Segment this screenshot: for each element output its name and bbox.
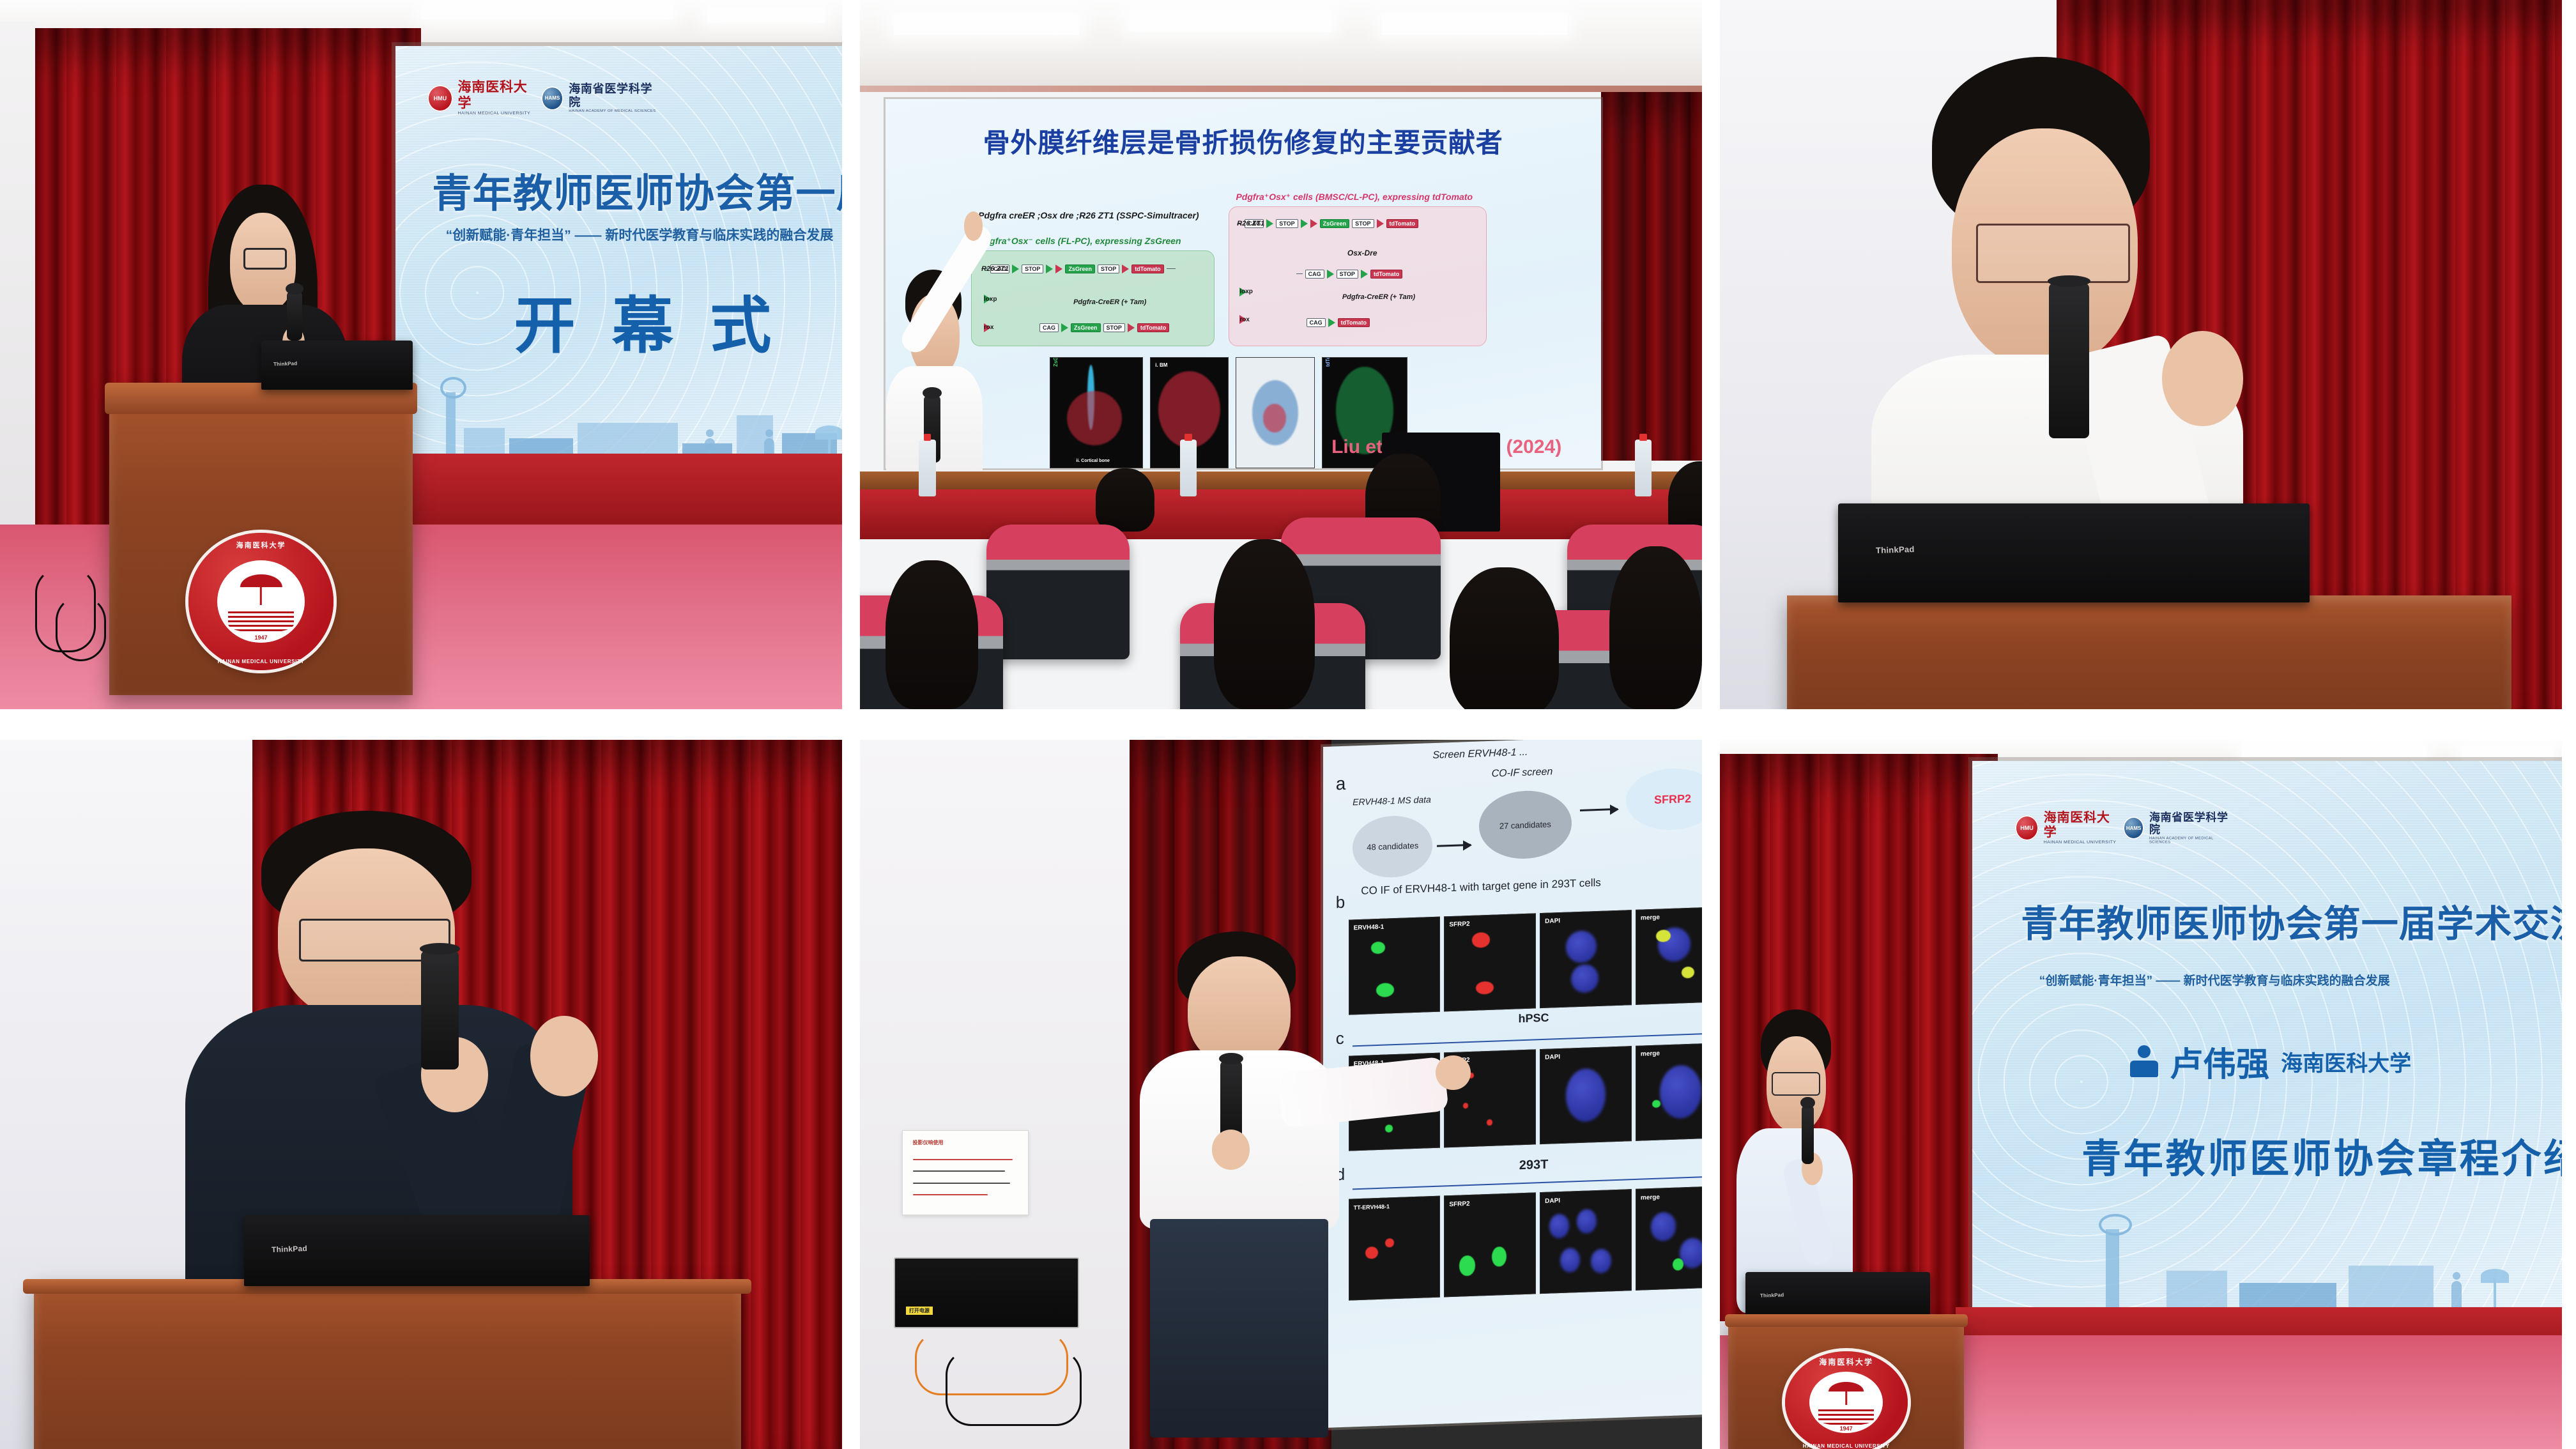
banner-subtitle: “创新赋能·青年担当” —— 新时代医学教育与临床实践的融合发展 — [2039, 971, 2390, 988]
person-silhouette — [2451, 1281, 2462, 1309]
led-banner: HMU 海南医科大学 HAINAN MEDICAL UNIVERSITY HAM… — [395, 46, 842, 471]
screen-heading: Screen ERVH48-1 ... — [1432, 747, 1528, 762]
open-book-icon — [1818, 1409, 1874, 1425]
element-tdtomato: tdTomato — [1386, 219, 1418, 228]
emblem-en-text: HAINAN MEDICAL UNIVERSITY — [1785, 1443, 1908, 1449]
hainan-academy-logo-icon: HAMS — [2123, 816, 2145, 839]
notice-title: 投影仪响使用 — [913, 1139, 944, 1146]
legend-loxp: loxp — [1239, 287, 1246, 296]
loxp-triangle-icon — [1012, 264, 1019, 273]
male-speaker — [1736, 1009, 1871, 1307]
thinkpad-logo: ThinkPad — [272, 1244, 307, 1254]
element-tdtomato: tdTomato — [1137, 323, 1169, 332]
led-banner: HMU 海南医科大学 HAINAN MEDICAL UNIVERSITY HAM… — [1972, 761, 2562, 1314]
panel-b-letter: b — [1336, 893, 1345, 913]
banner-speaker-name: 卢伟强 — [2170, 1038, 2269, 1085]
logo-primary-text: 海南医科大学 HAINAN MEDICAL UNIVERSITY — [457, 80, 535, 116]
loxp-triangle-icon — [1266, 219, 1273, 228]
podium — [34, 1279, 741, 1449]
element-stop: STOP — [1352, 219, 1374, 228]
audience-head — [1609, 546, 1702, 709]
if-grid-d: TT-ERVH48-1 SFRP2 DAPI merge — [1348, 1186, 1702, 1301]
loxp-triangle-icon — [1061, 323, 1068, 332]
candidates-27-label: 27 candidates — [1499, 819, 1551, 831]
male-presenter-pointing — [1112, 931, 1382, 1428]
gene-row: R26 ZT1 CAG STOP ZsGreen STOP tdTomato — [981, 264, 1176, 273]
panel-a-letter: a — [1336, 773, 1346, 794]
if-cell: merge — [1636, 1043, 1702, 1141]
element-cag: CAG — [1039, 323, 1059, 332]
green-construct-caption: Pdgfra⁺Osx⁻ cells (FL-PC), expressing Zs… — [978, 236, 1181, 247]
candidates-48-ellipse: 48 candidates — [1353, 815, 1432, 878]
element-tdtomato: tdTomato — [1370, 270, 1402, 279]
banner-speaker-row: 卢伟强 海南医科大学 — [2130, 1038, 2411, 1085]
university-emblem: 海南医科大学 1947 HAINAN MEDICAL UNIVERSITY — [1785, 1351, 1908, 1449]
podium-top — [1725, 1314, 1968, 1327]
candidates-27-ellipse: 27 candidates — [1479, 789, 1572, 861]
notice-line — [913, 1159, 1013, 1160]
logo-secondary-text: 海南省医学科学院 HAINAN ACADEMY OF MEDICAL SCIEN… — [569, 82, 658, 113]
if-column-label: DAPI — [1545, 1197, 1560, 1205]
laptop: ThinkPad — [261, 341, 413, 390]
banner-title: 青年教师医师协会第一届学术交流会 — [432, 161, 842, 218]
water-bottle — [1635, 440, 1652, 496]
notice-line — [913, 1194, 988, 1195]
banner-logo-row: HMU 海南医科大学 HAINAN MEDICAL UNIVERSITY HAM… — [2015, 811, 2234, 845]
ceiling-light — [421, 4, 673, 19]
rox-triangle-icon — [1122, 264, 1129, 273]
if-cell: SFRP2 — [1444, 1192, 1536, 1298]
stage-curtain-right — [1601, 92, 1702, 461]
emblem-cn-text: 海南医科大学 — [1785, 1356, 1908, 1367]
logo-secondary-text: 海南省医学科学院 HAINAN ACADEMY OF MEDICAL SCIEN… — [2149, 811, 2234, 845]
element-stop: STOP — [1276, 219, 1298, 228]
water-bottle — [919, 440, 935, 496]
glasses-icon — [1772, 1072, 1820, 1096]
arrow-icon — [1437, 844, 1471, 847]
ceiling-light — [894, 14, 1079, 35]
logo-secondary-cn: 海南省医学科学院 — [2149, 811, 2234, 836]
trousers — [1150, 1219, 1328, 1437]
rox-triangle-icon — [1055, 264, 1062, 273]
electrical-box: 打开电源 — [894, 1257, 1079, 1328]
thinkpad-logo: ThinkPad — [1760, 1292, 1784, 1298]
panel-speaker-dark-shirt[interactable]: ThinkPad — [0, 740, 842, 1449]
legend-loxp-label: loxp — [1239, 288, 1253, 295]
if-cell: SFRP2 — [1444, 913, 1536, 1011]
if-column-label: SFRP2 — [1449, 921, 1469, 928]
panel-b-title: CO IF of ERVH48-1 with target gene in 29… — [1361, 877, 1600, 898]
if-column-label: DAPI — [1545, 917, 1560, 925]
auditorium-seat — [986, 525, 1130, 659]
speaker-podium-icon — [2130, 1045, 2158, 1078]
microphone — [1802, 1105, 1814, 1164]
microphone — [421, 951, 459, 1069]
model-label: Pdgfra creER ;Osx dre ;R26 ZT1 (SSPC-Sim… — [978, 210, 1199, 220]
glasses-icon — [1976, 224, 2129, 283]
panel-opening-ceremony[interactable]: HMU 海南医科大学 HAINAN MEDICAL UNIVERSITY HAM… — [0, 0, 842, 709]
logo-secondary-cn: 海南省医学科学院 — [569, 82, 658, 109]
logo-primary-en: HAINAN MEDICAL UNIVERSITY — [2044, 841, 2119, 845]
podium — [1787, 595, 2511, 709]
element-cag: CAG — [1307, 318, 1326, 327]
rox-triangle-icon — [1377, 219, 1384, 228]
audience-head — [1214, 539, 1315, 709]
element-tdtomato: tdTomato — [1338, 318, 1370, 327]
ceiling-light — [707, 8, 825, 22]
if-column-label: merge — [1641, 1050, 1660, 1058]
palm-caduceus-icon — [236, 572, 286, 608]
panel-charter-introduction[interactable]: HMU 海南医科大学 HAINAN MEDICAL UNIVERSITY HAM… — [1720, 740, 2562, 1449]
hainan-medical-university-logo-icon: HMU — [2015, 815, 2039, 841]
laptop: ThinkPad — [244, 1215, 589, 1286]
banner-subtitle: “创新赋能·青年担当” —— 新时代医学教育与临床实践的融合发展 — [446, 225, 834, 244]
banner-skyline-illustration — [1972, 1193, 2562, 1314]
emblem-en-text: HAINAN MEDICAL UNIVERSITY — [188, 659, 334, 664]
wall-notice: 投影仪响使用 — [902, 1130, 1029, 1215]
panel-bone-presentation[interactable]: 骨外膜纤维层是骨折损伤修复的主要贡献者 Pdgfra creER ;Osx dr… — [860, 0, 1702, 709]
hand-holding-mic — [1212, 1130, 1250, 1169]
gene-row-final: CAG tdTomato — [1307, 318, 1370, 327]
legend-rox: rox — [1239, 315, 1246, 324]
ceiling-light — [2242, 744, 2427, 758]
element-stop: STOP — [1103, 323, 1125, 332]
recombinase-green: Pdgfra-CreER (+ Tam) — [1073, 298, 1146, 306]
notice-line — [913, 1170, 1006, 1172]
if-column-label: DAPI — [1545, 1054, 1560, 1061]
pointing-hand — [964, 211, 983, 240]
loxp-triangle-icon — [1328, 318, 1335, 327]
recombinase-pink-top: Osx-Dre — [1347, 249, 1377, 257]
radio-tower-icon — [2106, 1229, 2119, 1314]
micrograph-label: tdTomato Sox9 Col10 — [1325, 357, 1331, 367]
audience-head — [885, 560, 978, 709]
gesturing-hand — [2162, 331, 2243, 426]
element-zsgreen: ZsGreen — [1071, 323, 1101, 332]
logo-secondary-en: HAINAN ACADEMY OF MEDICAL SCIENCES — [569, 109, 658, 113]
loxp-triangle-icon — [1301, 219, 1308, 228]
audience-head — [1096, 468, 1154, 532]
podium: 海南医科大学 1947 HAINAN MEDICAL UNIVERSITY — [109, 383, 412, 694]
ceiling-light — [1382, 14, 1567, 35]
micrograph-sublabel: ii. Cortical bone — [1076, 459, 1110, 463]
if-cell: DAPI — [1540, 1189, 1632, 1294]
ms-data-label: ERVH48-1 MS data — [1353, 794, 1431, 807]
hainan-medical-university-logo-icon: HMU — [427, 85, 452, 112]
micrograph-section — [1236, 357, 1314, 468]
element-zsgreen: ZsGreen — [1065, 264, 1095, 273]
banner-title: 青年教师医师协会第一届学术交流会 — [2021, 894, 2562, 947]
hit-label: SFRP2 — [1654, 792, 1691, 807]
loxp-triangle-icon — [1327, 270, 1334, 279]
glasses-icon — [243, 248, 287, 269]
gene-row-mid: CAG STOP tdTomato — [1296, 270, 1403, 279]
candidates-48-label: 48 candidates — [1367, 841, 1418, 852]
water-bottle — [1180, 440, 1197, 496]
recombinase-pink-bottom: Pdgfra-CreER (+ Tam) — [1342, 293, 1415, 301]
emblem-inner: 1947 — [217, 560, 305, 643]
logo-primary-cn: 海南医科大学 — [2044, 811, 2119, 840]
logo-primary-cn: 海南医科大学 — [457, 80, 535, 111]
cables — [26, 553, 126, 695]
microphone — [2049, 283, 2089, 438]
podium: 海南医科大学 1947 HAINAN MEDICAL UNIVERSITY — [1728, 1314, 1964, 1449]
microphone — [287, 291, 302, 341]
element-zsgreen: ZsGreen — [1320, 219, 1350, 228]
cables — [902, 1321, 1121, 1449]
if-cell: DAPI — [1540, 910, 1632, 1008]
element-tdtomato: tdTomato — [1131, 264, 1163, 273]
photo-collage: HMU 海南医科大学 HAINAN MEDICAL UNIVERSITY HAM… — [0, 0, 2576, 1449]
cable — [56, 595, 106, 661]
university-emblem: 海南医科大学 1947 HAINAN MEDICAL UNIVERSITY — [188, 533, 334, 670]
element-stop: STOP — [1022, 264, 1043, 273]
panel-closeup-speaker[interactable]: ThinkPad — [1720, 0, 2562, 709]
black-cable — [946, 1349, 1081, 1426]
logo-secondary-en: HAINAN ACADEMY OF MEDICAL SCIENCES — [2149, 837, 2234, 845]
emblem-inner: 1947 — [1809, 1372, 1883, 1433]
if-column-label: ERVH48-1 — [1354, 924, 1384, 932]
if-cell: merge — [1636, 907, 1702, 1005]
head — [1188, 956, 1290, 1066]
slide-title: 骨外膜纤维层是骨折损伤修复的主要贡献者 — [885, 121, 1601, 160]
open-book-icon — [228, 611, 295, 633]
element-cag: CAG — [1305, 270, 1324, 279]
laptop: ThinkPad — [1838, 503, 2310, 602]
locus-label: R26 ZT1 — [1237, 220, 1264, 227]
pink-construct-box: R26 ZT1 CAG STOP ZsGreen STOP tdTomato O… — [1229, 206, 1486, 346]
banner-logo-row: HMU 海南医科大学 HAINAN MEDICAL UNIVERSITY HAM… — [427, 80, 658, 116]
arrow-icon — [1580, 808, 1618, 811]
banner-skyline-illustration — [395, 344, 842, 471]
palm-caduceus-icon — [1825, 1380, 1867, 1407]
if-cell: merge — [1636, 1186, 1702, 1291]
element-stop: STOP — [1098, 264, 1119, 273]
emblem-cn-text: 海南医科大学 — [188, 540, 334, 550]
rox-triangle-icon — [1310, 219, 1317, 228]
hit-ellipse: SFRP2 — [1626, 767, 1702, 832]
notice-line — [913, 1183, 1011, 1184]
element-stop: STOP — [1337, 270, 1358, 279]
thinkpad-logo: ThinkPad — [1875, 544, 1914, 555]
gesturing-hand — [530, 1016, 597, 1097]
thinkpad-logo: ThinkPad — [273, 361, 297, 367]
pink-construct-caption: Pdgfra⁺Osx⁺ cells (BMSC/CL-PC), expressi… — [1236, 192, 1473, 203]
ebox-tag: 打开电源 — [906, 1307, 933, 1315]
hainan-academy-logo-icon: HAMS — [541, 86, 563, 111]
wall-left-strip — [0, 21, 35, 588]
emblem-year: 1947 — [217, 634, 305, 641]
ceiling-light — [1130, 11, 1331, 32]
if-column-label: merge — [1641, 914, 1660, 922]
micrograph-periosteum: ZsGreen tdTomato Periostin ii. Cortical … — [1050, 357, 1143, 468]
coif-heading: CO-IF screen — [1491, 766, 1552, 779]
green-construct-box: R26 ZT1 CAG STOP ZsGreen STOP tdTomato P… — [971, 250, 1215, 346]
banner-topic: 青年教师医师协会章程介绍 — [2081, 1126, 2562, 1184]
if-cell: DAPI — [1540, 1046, 1632, 1144]
loxp-triangle-icon — [1046, 264, 1053, 273]
logo-primary-en: HAINAN MEDICAL UNIVERSITY — [457, 111, 535, 116]
panel-ervh48-presentation[interactable]: 投影仪响使用 打开电源 a Screen ERVH48-1 ... CO-IF … — [860, 740, 1702, 1449]
loxp-triangle-icon — [1361, 270, 1368, 279]
gene-row: R26 ZT1 CAG STOP ZsGreen STOP tdTomato — [1237, 219, 1418, 228]
banner-speaker-affiliation: 海南医科大学 — [2281, 1046, 2411, 1077]
if-grid-b: ERVH48-1 SFRP2 DAPI merge — [1348, 907, 1702, 1015]
if-column-label: SFRP2 — [1449, 1200, 1469, 1208]
head-table-top — [860, 471, 1702, 489]
rox-triangle-icon — [1128, 323, 1135, 332]
ceiling-light — [2461, 747, 2554, 761]
gene-row-recombined: CAG ZsGreen STOP tdTomato — [1039, 323, 1169, 332]
micrograph-label: i. BM — [1155, 362, 1167, 368]
emblem-year: 1947 — [1809, 1425, 1883, 1432]
micrograph-label: ZsGreen tdTomato Periostin — [1053, 357, 1059, 367]
if-column-label: merge — [1641, 1193, 1660, 1201]
logo-primary-text: 海南医科大学 HAINAN MEDICAL UNIVERSITY — [2044, 811, 2119, 845]
legend-rox-label: rox — [1239, 316, 1250, 323]
audience-head — [1450, 567, 1559, 709]
